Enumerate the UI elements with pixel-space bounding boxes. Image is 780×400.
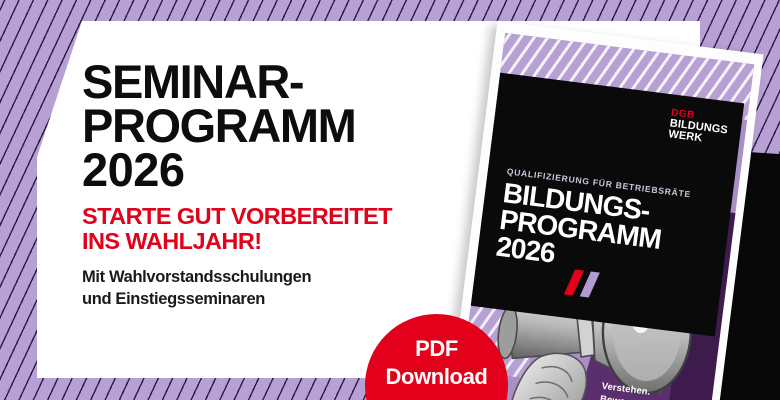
download-label: Download — [386, 364, 488, 390]
banner-copy: SEMINAR- PROGRAMM 2026 STARTE GUT VORBER… — [82, 60, 482, 310]
cover-slash-marks — [567, 269, 599, 303]
kicker-line-1: Mit Wahlvorstandsschulungen — [82, 267, 482, 288]
headline-line-3: 2026 — [82, 148, 482, 192]
cover-black-panel: DGB BILDUNGS WERK QUALIFIZIERUNG FÜR BET… — [471, 73, 745, 337]
kicker-text: Mit Wahlvorstandsschulungen und Einstieg… — [82, 267, 482, 310]
headline-line-2: PROGRAMM — [82, 104, 482, 148]
promo-banner: DGB BILDUNGS WERK QUALIFIZIERUNG FÜR BET… — [0, 0, 780, 400]
slash-violet-icon — [580, 272, 600, 298]
dgb-bildungswerk-logo: DGB BILDUNGS WERK — [668, 108, 730, 148]
brochure-cover[interactable]: DGB BILDUNGS WERK QUALIFIZIERUNG FÜR BET… — [448, 21, 763, 400]
subheadline-line-2: INS WAHLJAHR! — [82, 229, 482, 255]
cover-title: BILDUNGS- PROGRAMM 2026 — [495, 180, 666, 280]
headline-line-1: SEMINAR- — [82, 60, 482, 104]
pdf-label: PDF — [415, 336, 458, 362]
kicker-line-2: und Einstiegsseminaren — [82, 289, 482, 310]
subheadline-line-1: STARTE GUT VORBEREITET — [82, 204, 482, 230]
brochure-cover-art: DGB BILDUNGS WERK QUALIFIZIERUNG FÜR BET… — [457, 33, 754, 400]
subheadline: STARTE GUT VORBEREITET INS WAHLJAHR! — [82, 204, 482, 256]
page-title: SEMINAR- PROGRAMM 2026 — [82, 60, 482, 193]
